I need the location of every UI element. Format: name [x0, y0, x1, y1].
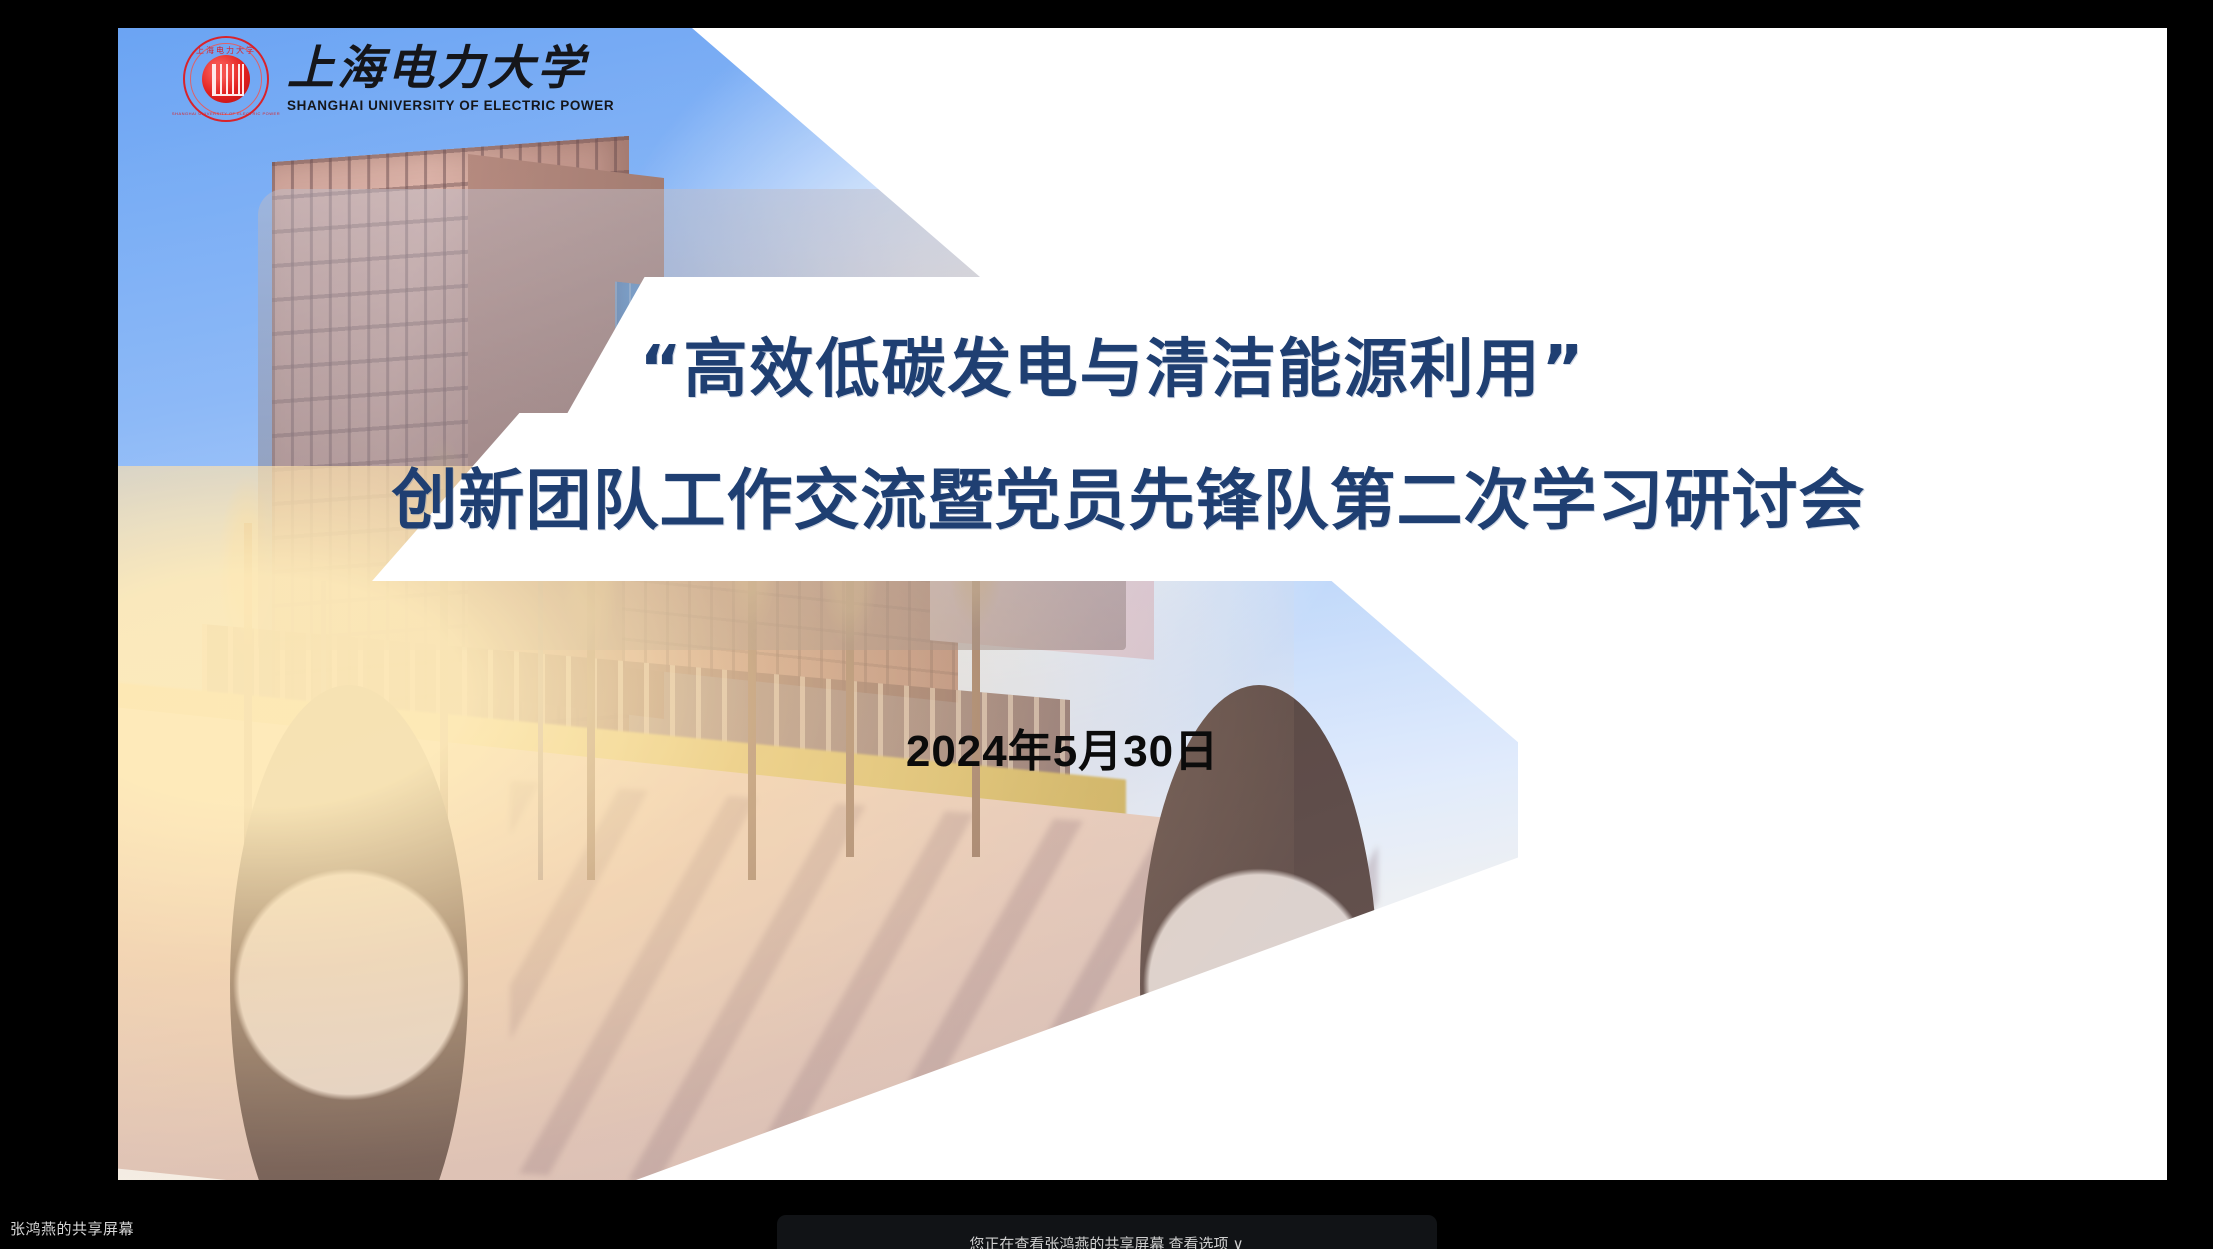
slide-headline-sub: 创新团队工作交流暨党员先锋队第二次学习研讨会 — [118, 447, 2139, 543]
share-presenter-label: 张鸿燕的共享屏幕 — [10, 1218, 134, 1239]
university-logo: 上海电力大学 SHANGHAI UNIVERSITY OF ELECTRIC P… — [183, 36, 614, 122]
university-name-cn: 上海电力大学 — [287, 45, 614, 92]
campus-photo — [118, 28, 1518, 1180]
seal-arc-text-en: SHANGHAI UNIVERSITY OF ELECTRIC POWER — [172, 111, 280, 116]
university-seal-icon: 上海电力大学 SHANGHAI UNIVERSITY OF ELECTRIC P… — [183, 36, 269, 122]
seal-center-glyph — [212, 64, 244, 95]
share-toolbar-text: 您正在查看张鸿燕的共享屏幕 查看选项 ∨ — [777, 1233, 1437, 1249]
screen-share-viewport: 上海电力大学 SHANGHAI UNIVERSITY OF ELECTRIC P… — [0, 0, 2213, 1249]
share-toolbar[interactable]: 您正在查看张鸿燕的共享屏幕 查看选项 ∨ — [777, 1215, 1437, 1249]
slide-date: 2024年5月30日 — [118, 715, 2007, 779]
seal-arc-text-cn: 上海电力大学 — [196, 45, 256, 56]
university-logo-text: 上海电力大学 SHANGHAI UNIVERSITY OF ELECTRIC P… — [287, 45, 614, 113]
presentation-slide: 上海电力大学 SHANGHAI UNIVERSITY OF ELECTRIC P… — [118, 28, 2167, 1180]
slide-headline-main: “高效低碳发电与清洁能源利用” — [118, 318, 2107, 410]
university-name-en: SHANGHAI UNIVERSITY OF ELECTRIC POWER — [287, 99, 614, 113]
